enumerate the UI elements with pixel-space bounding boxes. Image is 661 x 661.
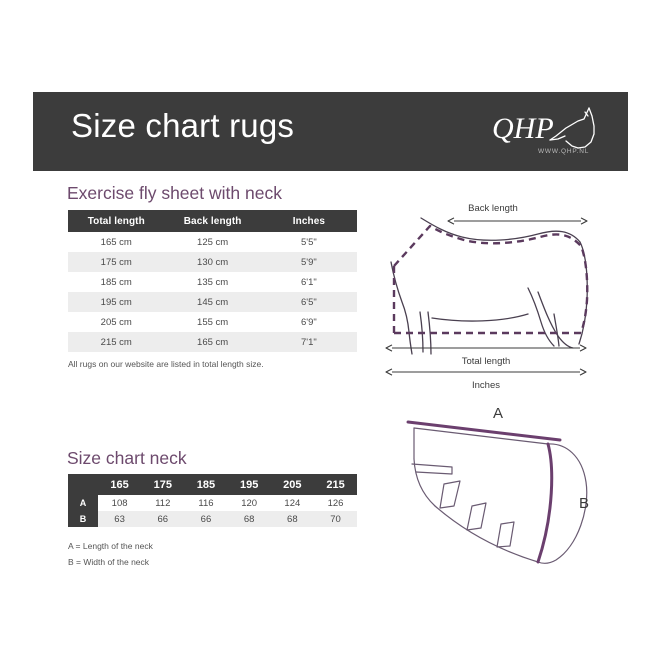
section-heading-neck: Size chart neck (67, 448, 187, 469)
header-banner: Size chart rugs QHP WWW.QHP.NL (33, 92, 628, 171)
column-header-inches: Inches (261, 210, 357, 232)
cell-a-195: 120 (228, 495, 271, 511)
rugs-table-note: All rugs on our website are listed in to… (68, 359, 264, 369)
neck-legend-b: B = Width of the neck (68, 557, 149, 567)
logo-wordmark: QHP (492, 112, 554, 145)
horse-rug-measurement-diagram: Back length (378, 196, 608, 396)
cell-back-length: 130 cm (165, 252, 261, 272)
label-back-length: Back length (468, 203, 518, 214)
column-header-back-length: Back length (165, 210, 261, 232)
cell-total-length: 205 cm (68, 312, 165, 332)
cell-a-215: 126 (314, 495, 357, 511)
cell-inches: 6'9" (261, 312, 357, 332)
cell-back-length: 145 cm (165, 292, 261, 312)
measurement-line-a (408, 422, 560, 440)
column-header-215: 215 (314, 474, 357, 495)
cell-inches: 7'1" (261, 332, 357, 352)
cell-back-length: 165 cm (165, 332, 261, 352)
neck-rug-measurement-diagram: A B (388, 396, 610, 581)
qhp-logo: QHP WWW.QHP.NL (492, 106, 604, 158)
column-header-185: 185 (184, 474, 227, 495)
table-row: 215 cm 165 cm 7'1" (68, 332, 357, 352)
cell-b-185: 66 (184, 511, 227, 527)
column-header-205: 205 (271, 474, 314, 495)
table-row: 165 cm 125 cm 5'5" (68, 232, 357, 252)
table-row: 195 cm 145 cm 6'5" (68, 292, 357, 312)
neck-cover-outline (412, 428, 587, 563)
cell-inches: 6'1" (261, 272, 357, 292)
table-row: A 108 112 116 120 124 126 (68, 495, 357, 511)
page-title: Size chart rugs (71, 107, 294, 145)
cell-a-165: 108 (98, 495, 141, 511)
table-row: B 63 66 66 68 68 70 (68, 511, 357, 527)
cell-inches: 5'9" (261, 252, 357, 272)
logo-url-text: WWW.QHP.NL (538, 148, 589, 155)
cell-b-165: 63 (98, 511, 141, 527)
column-header-195: 195 (228, 474, 271, 495)
cell-inches: 6'5" (261, 292, 357, 312)
cell-total-length: 195 cm (68, 292, 165, 312)
size-chart-page: Size chart rugs QHP WWW.QHP.NL Exercise … (0, 0, 661, 661)
cell-back-length: 125 cm (165, 232, 261, 252)
row-header-a: A (68, 495, 98, 511)
cell-a-185: 116 (184, 495, 227, 511)
neck-size-table: 165 175 185 195 205 215 A 108 112 116 12… (68, 474, 357, 527)
cell-total-length: 175 cm (68, 252, 165, 272)
rug-outline-dashed (394, 226, 587, 333)
cell-total-length: 185 cm (68, 272, 165, 292)
cell-back-length: 155 cm (165, 312, 261, 332)
column-header-total-length: Total length (68, 210, 165, 232)
cell-b-215: 70 (314, 511, 357, 527)
row-header-b: B (68, 511, 98, 527)
column-header-165: 165 (98, 474, 141, 495)
table-header-row: 165 175 185 195 205 215 (68, 474, 357, 495)
cell-inches: 5'5" (261, 232, 357, 252)
table-row: 175 cm 130 cm 5'9" (68, 252, 357, 272)
column-header-175: 175 (141, 474, 184, 495)
cell-b-175: 66 (141, 511, 184, 527)
cell-a-205: 124 (271, 495, 314, 511)
table-row: 205 cm 155 cm 6'9" (68, 312, 357, 332)
cell-total-length: 215 cm (68, 332, 165, 352)
label-total-length: Total length (462, 356, 511, 367)
neck-cover-straps (440, 481, 514, 547)
cell-b-195: 68 (228, 511, 271, 527)
measurement-line-b (538, 444, 552, 562)
label-a: A (493, 405, 503, 422)
cell-total-length: 165 cm (68, 232, 165, 252)
table-row: 185 cm 135 cm 6'1" (68, 272, 357, 292)
column-header-corner (68, 474, 98, 495)
label-inches: Inches (472, 380, 500, 391)
cell-b-205: 68 (271, 511, 314, 527)
cell-back-length: 135 cm (165, 272, 261, 292)
section-heading-fly-sheet: Exercise fly sheet with neck (67, 183, 282, 204)
neck-legend-a: A = Length of the neck (68, 541, 153, 551)
cell-a-175: 112 (141, 495, 184, 511)
table-header-row: Total length Back length Inches (68, 210, 357, 232)
label-b: B (579, 495, 589, 512)
horse-head-icon (550, 108, 594, 148)
rugs-size-table: Total length Back length Inches 165 cm 1… (68, 210, 357, 352)
